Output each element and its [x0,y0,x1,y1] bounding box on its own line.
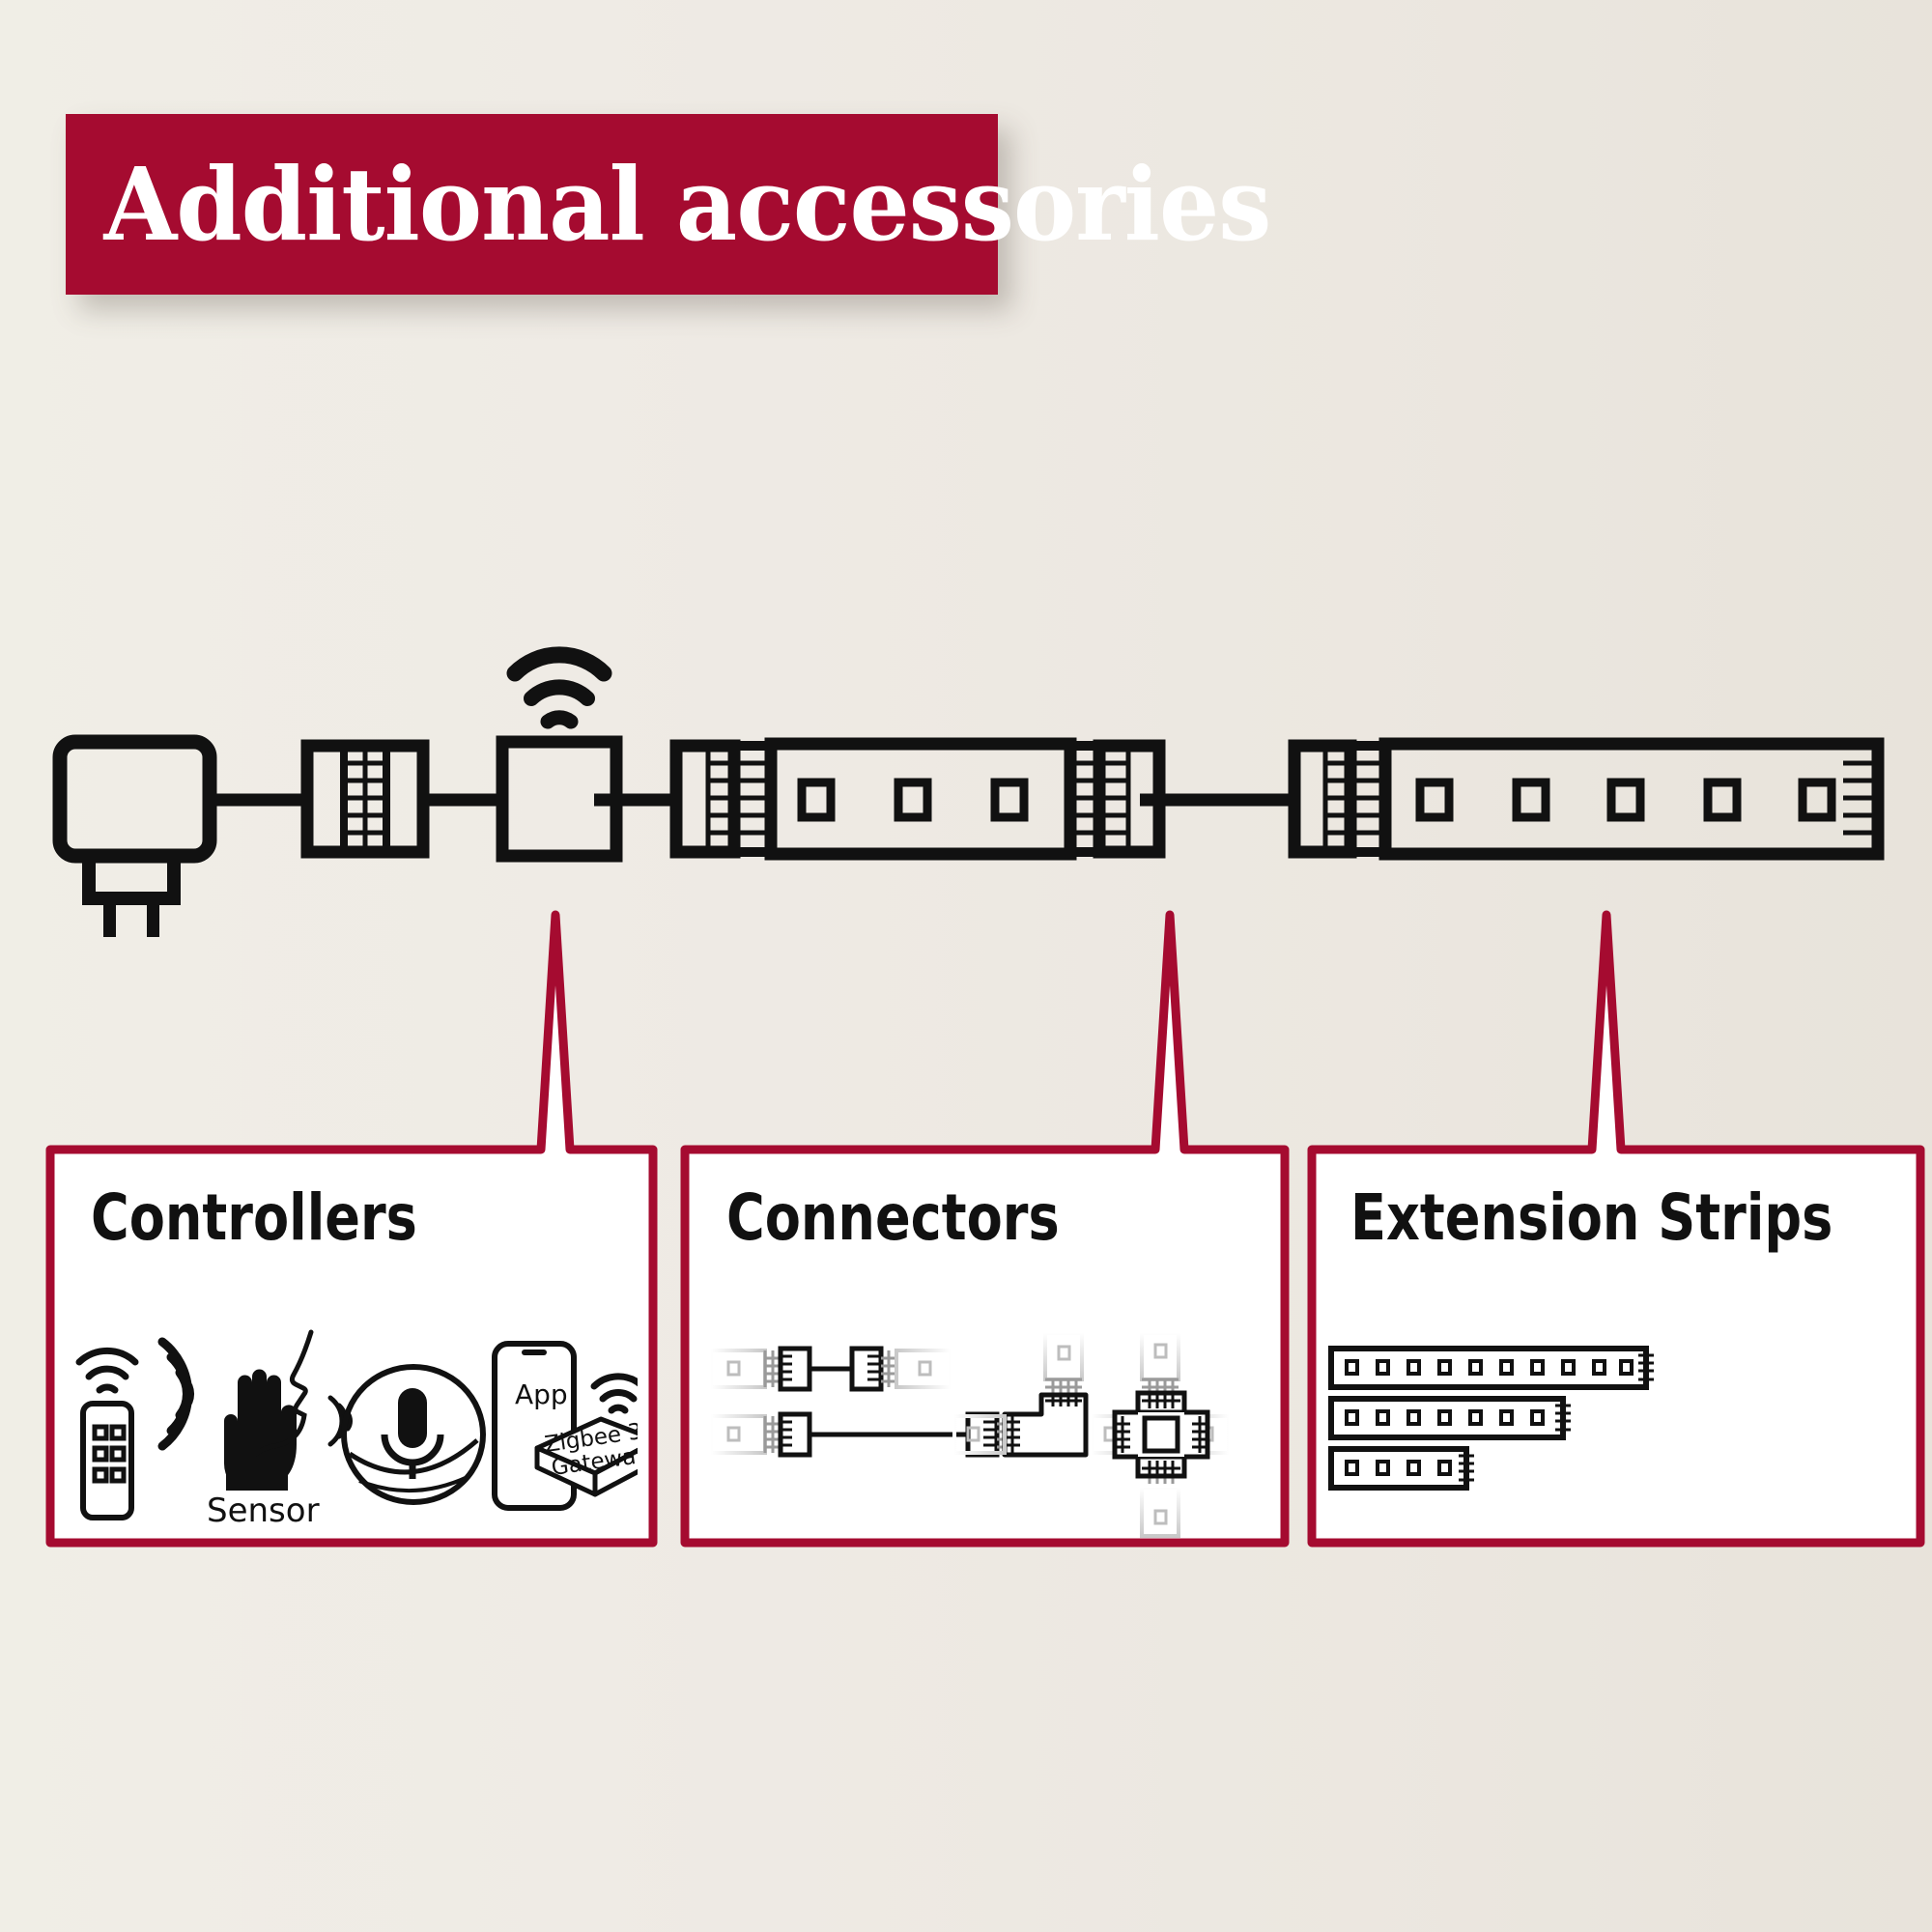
extension-strip-long [1331,1349,1654,1387]
straight-connector-short-icon [711,1349,951,1389]
power-supply-icon [60,742,210,937]
chain-connector-icon [307,746,423,852]
app-gateway-icon: App Zigbee 3.0 Gateway [495,1344,638,1508]
callout-title-extension-strips: Extension Strips [1350,1180,1833,1255]
callout-title-controllers: Controllers [91,1180,417,1255]
controllers-icons: Sensor App Zigbee 3.0 [58,1328,638,1560]
chain-diagram [0,618,1932,937]
extension-strips-icons [1323,1343,1903,1555]
page-title-banner: Additional accessories [66,114,998,295]
motion-sensor-icon [162,1342,297,1491]
led-strip-long-icon [1294,744,1878,854]
wifi-icon [515,655,604,722]
extension-strip-short [1331,1449,1474,1488]
app-label: App [515,1378,568,1410]
callout-title-connectors: Connectors [726,1180,1060,1255]
page-title: Additional accessories [66,145,1270,264]
remote-control-icon [79,1350,135,1518]
hand-icon [224,1370,297,1492]
connectors-icons [705,1333,1275,1555]
extension-strip-medium [1331,1399,1571,1437]
led-strip-short-icon [676,744,1159,854]
cross-connector-icon [1092,1333,1229,1536]
sensor-label: Sensor [207,1492,320,1530]
